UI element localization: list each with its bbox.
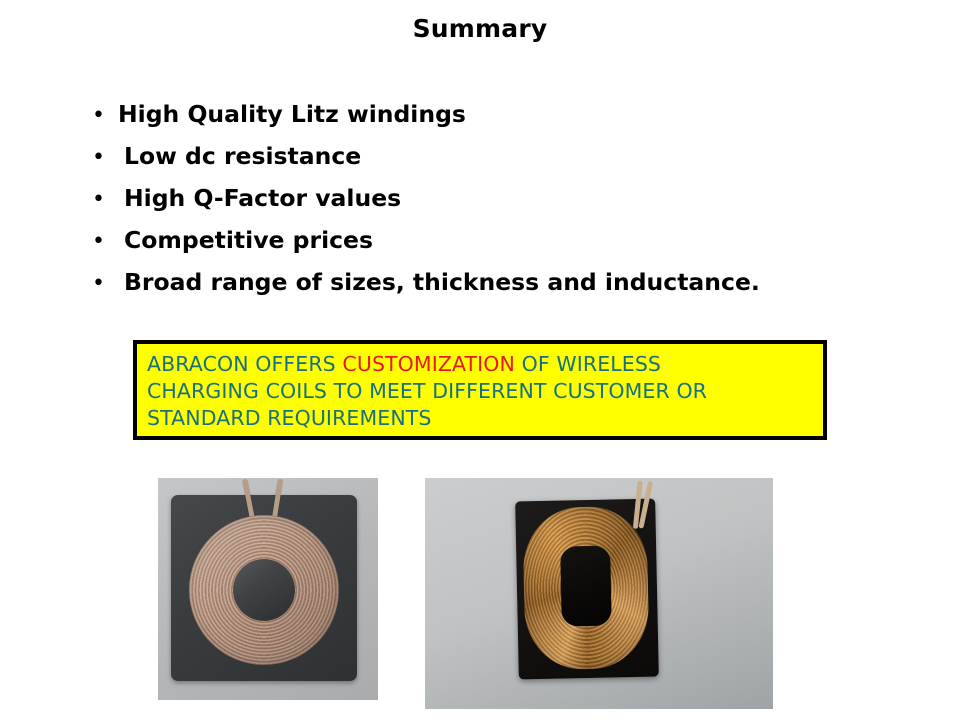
list-item-label: High Q-Factor values <box>118 184 401 212</box>
summary-bullet-list: • High Quality Litz windings • Low dc re… <box>92 100 912 310</box>
oval-copper-coil <box>522 506 649 671</box>
circular-litz-coil <box>189 515 339 665</box>
callout-text-before: ABRACON OFFERS <box>147 352 342 376</box>
bullet-marker-icon: • <box>92 147 118 169</box>
list-item: • High Q-Factor values <box>92 184 912 226</box>
bullet-marker-icon: • <box>92 105 118 127</box>
photo-circular-coil <box>158 478 378 700</box>
ferrite-plate <box>515 499 659 680</box>
list-item: • Competitive prices <box>92 226 912 268</box>
list-item-label: High Quality Litz windings <box>118 100 466 128</box>
page-title: Summary <box>0 14 960 43</box>
callout-text-after: OF WIRELESS <box>515 352 661 376</box>
list-item: • Low dc resistance <box>92 142 912 184</box>
ferrite-plate <box>171 495 357 681</box>
callout-highlight-word: CUSTOMIZATION <box>342 352 515 376</box>
bullet-marker-icon: • <box>92 189 118 211</box>
bullet-marker-icon: • <box>92 273 118 295</box>
customization-callout-box: ABRACON OFFERS CUSTOMIZATION OF WIRELESS… <box>133 340 827 440</box>
list-item-label: Low dc resistance <box>118 142 361 170</box>
list-item-label: Broad range of sizes, thickness and indu… <box>118 268 760 296</box>
list-item-label: Competitive prices <box>118 226 373 254</box>
coil-center-hole <box>560 546 612 627</box>
list-item: • Broad range of sizes, thickness and in… <box>92 268 912 310</box>
coil-center-hole <box>233 559 295 621</box>
photo-oval-coil <box>425 478 773 709</box>
bullet-marker-icon: • <box>92 231 118 253</box>
callout-line-1: ABRACON OFFERS CUSTOMIZATION OF WIRELESS <box>147 351 823 378</box>
callout-line-3: STANDARD REQUIREMENTS <box>147 405 823 432</box>
callout-line-2: CHARGING COILS TO MEET DIFFERENT CUSTOME… <box>147 378 823 405</box>
list-item: • High Quality Litz windings <box>92 100 912 142</box>
